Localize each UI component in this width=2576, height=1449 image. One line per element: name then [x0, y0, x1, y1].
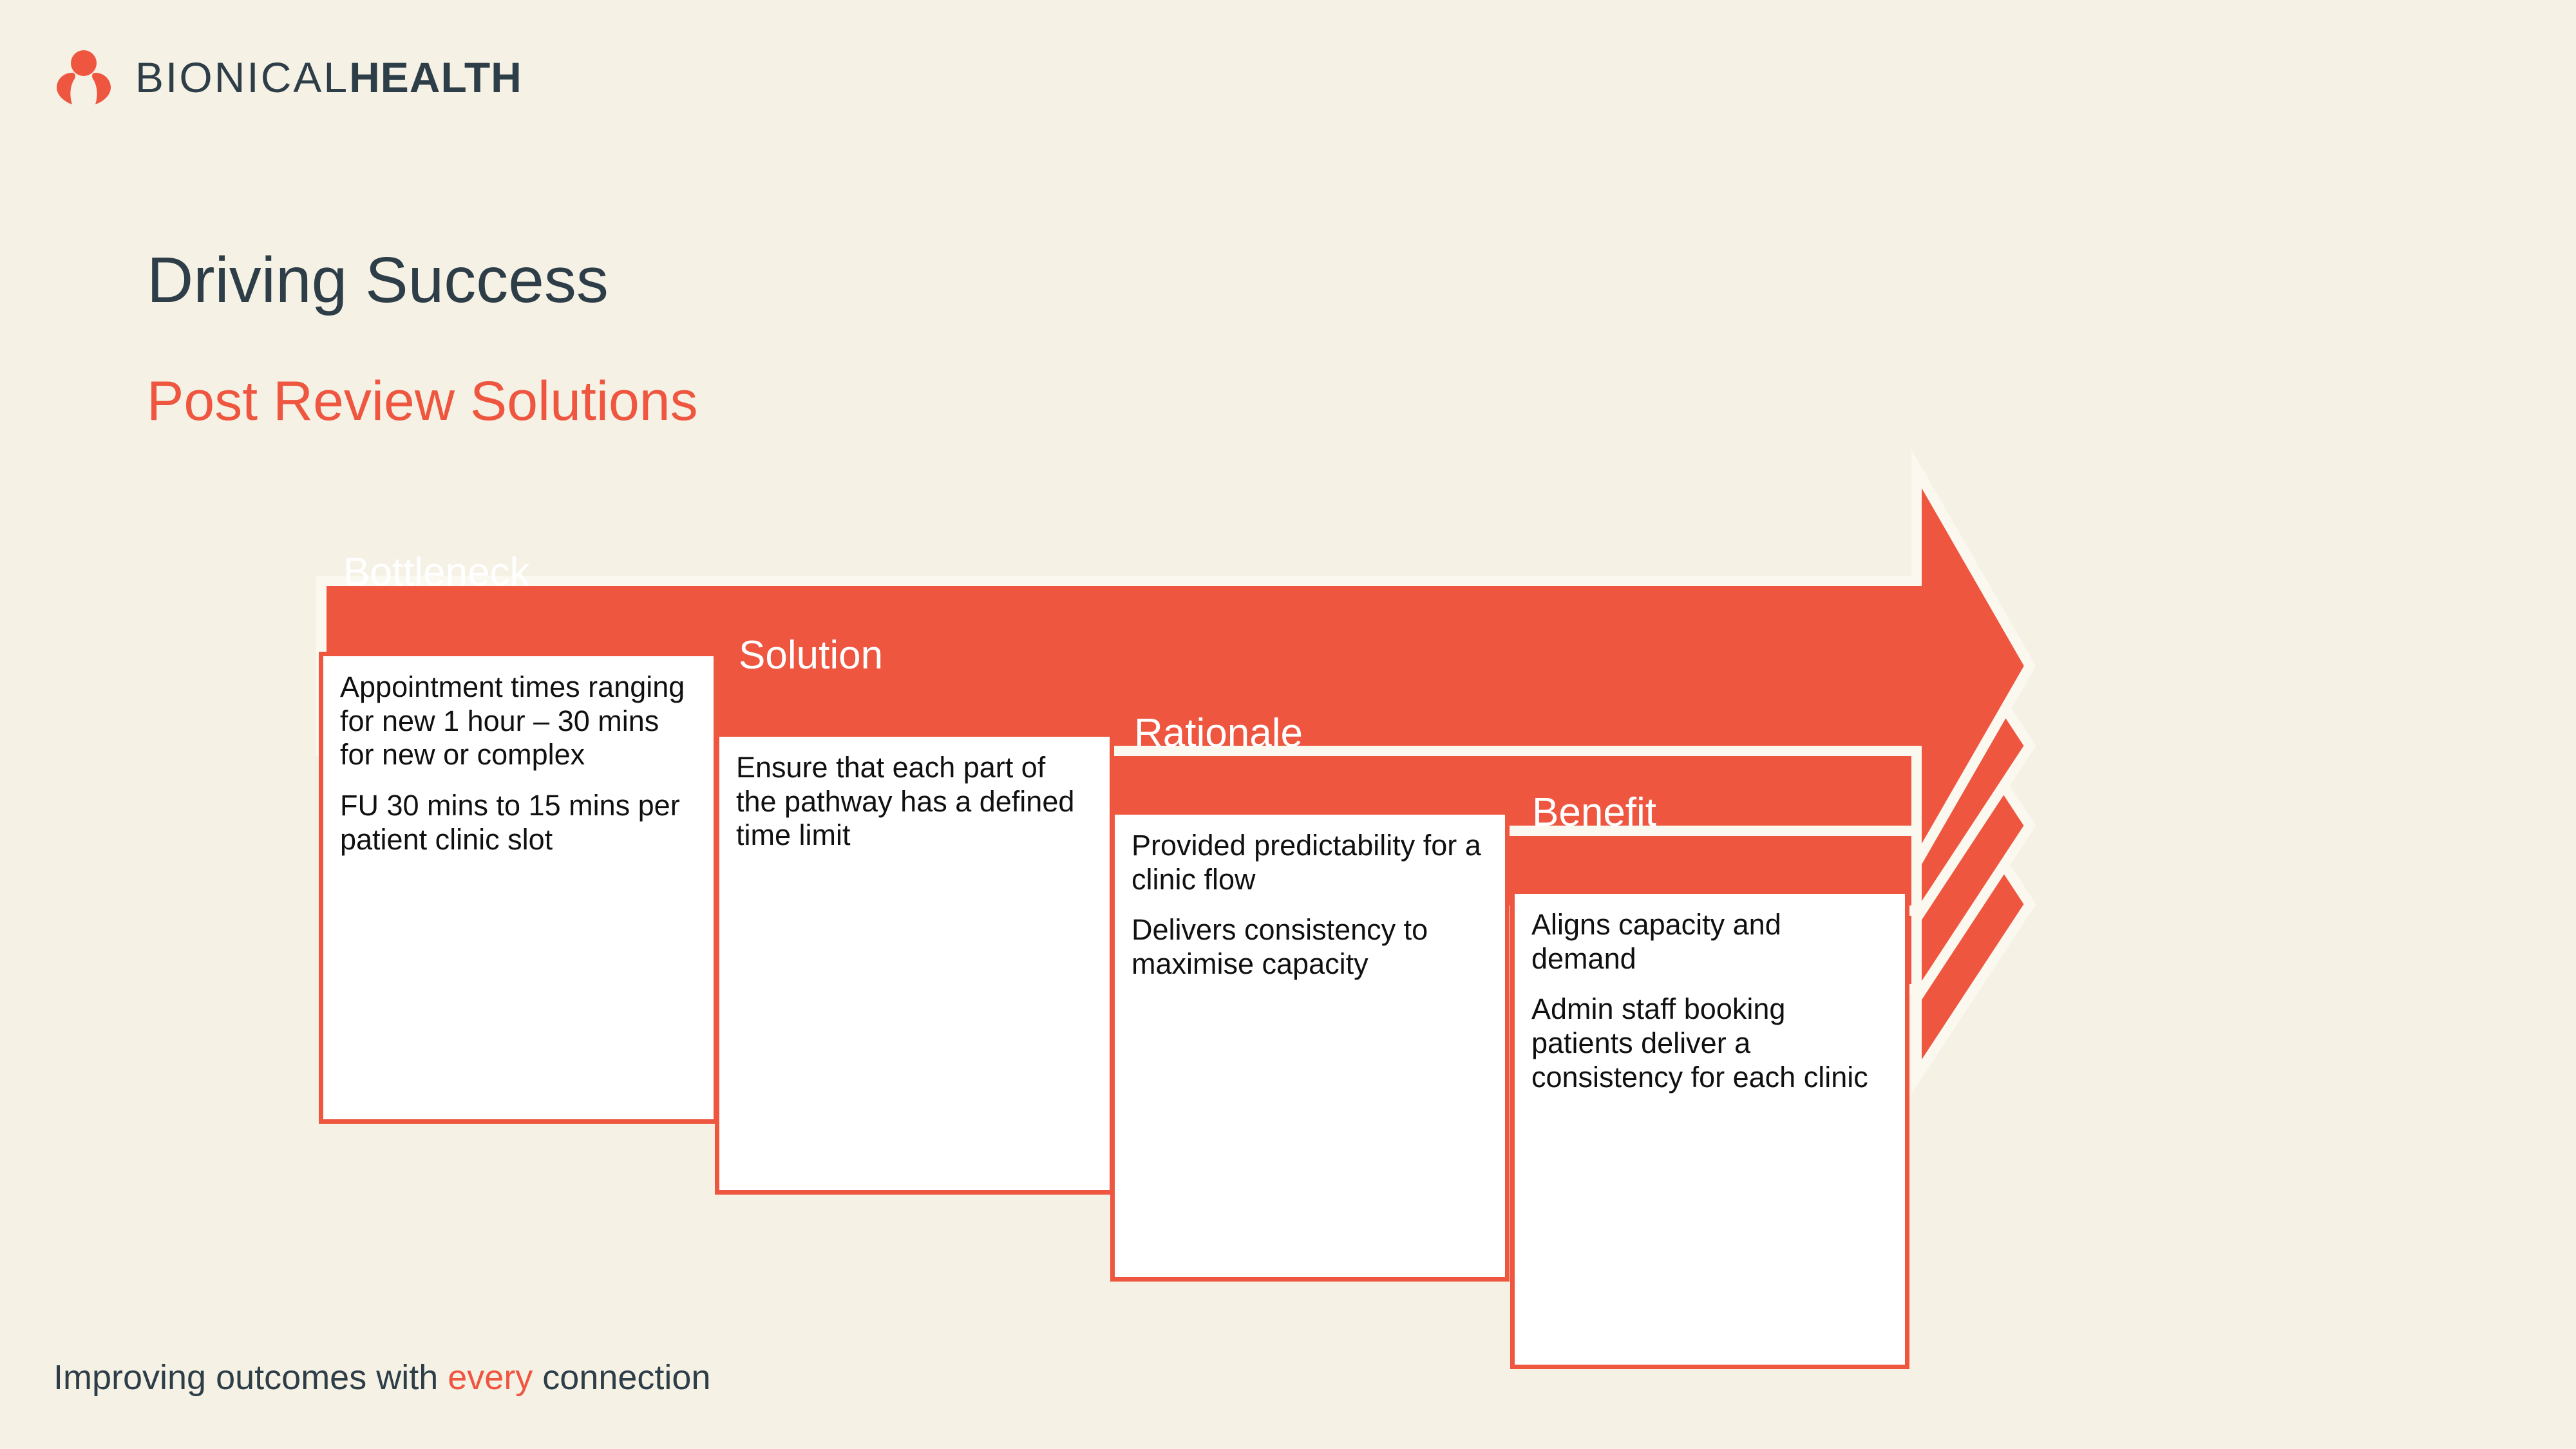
stage-card-body-bottleneck: Appointment times ranging for new 1 hour…	[323, 656, 714, 868]
page-title: Driving Success	[147, 247, 609, 314]
stage-card-bottleneck: Appointment times ranging for new 1 hour…	[319, 652, 718, 1124]
stage-label-bottleneck: Bottleneck	[343, 553, 530, 592]
stage-text: Delivers consistency to maximise capacit…	[1132, 913, 1488, 981]
stage-label-rationale: Rationale	[1134, 714, 1303, 753]
brand-name-bold: HEALTH	[349, 53, 522, 101]
brand-name-light: BIONICAL	[135, 53, 349, 101]
stage-label-benefit: Benefit	[1532, 793, 1656, 833]
stage-card-body-benefit: Aligns capacity and demand Admin staff b…	[1515, 894, 1905, 1106]
footer-accent-word: every	[448, 1358, 533, 1397]
stage-label-solution: Solution	[739, 636, 883, 676]
stage-text: Admin staff booking patients deliver a c…	[1531, 992, 1888, 1094]
stage-text: Ensure that each part of the pathway has…	[736, 751, 1093, 853]
stage-card-rationale: Provided predictability for a clinic flo…	[1110, 810, 1510, 1282]
stage-text: Provided predictability for a clinic flo…	[1132, 829, 1488, 896]
stage-card-body-rationale: Provided predictability for a clinic flo…	[1115, 815, 1505, 993]
brand-logo: BIONICALHEALTH	[50, 50, 522, 104]
three-petal-person-icon	[50, 50, 117, 104]
page-subtitle: Post Review Solutions	[147, 372, 698, 430]
stage-text: Appointment times ranging for new 1 hour…	[340, 670, 697, 772]
footer-tagline: Improving outcomes with every connection	[53, 1358, 711, 1397]
stage-text: FU 30 mins to 15 mins per patient clinic…	[340, 789, 697, 857]
stage-card-body-solution: Ensure that each part of the pathway has…	[719, 737, 1110, 864]
footer-text-before: Improving outcomes with	[53, 1358, 448, 1397]
stage-card-benefit: Aligns capacity and demand Admin staff b…	[1510, 889, 1909, 1369]
stage-text: Aligns capacity and demand	[1531, 908, 1888, 976]
brand-wordmark: BIONICALHEALTH	[135, 56, 522, 99]
footer-text-after: connection	[533, 1358, 710, 1397]
stage-card-solution: Ensure that each part of the pathway has…	[715, 732, 1114, 1195]
